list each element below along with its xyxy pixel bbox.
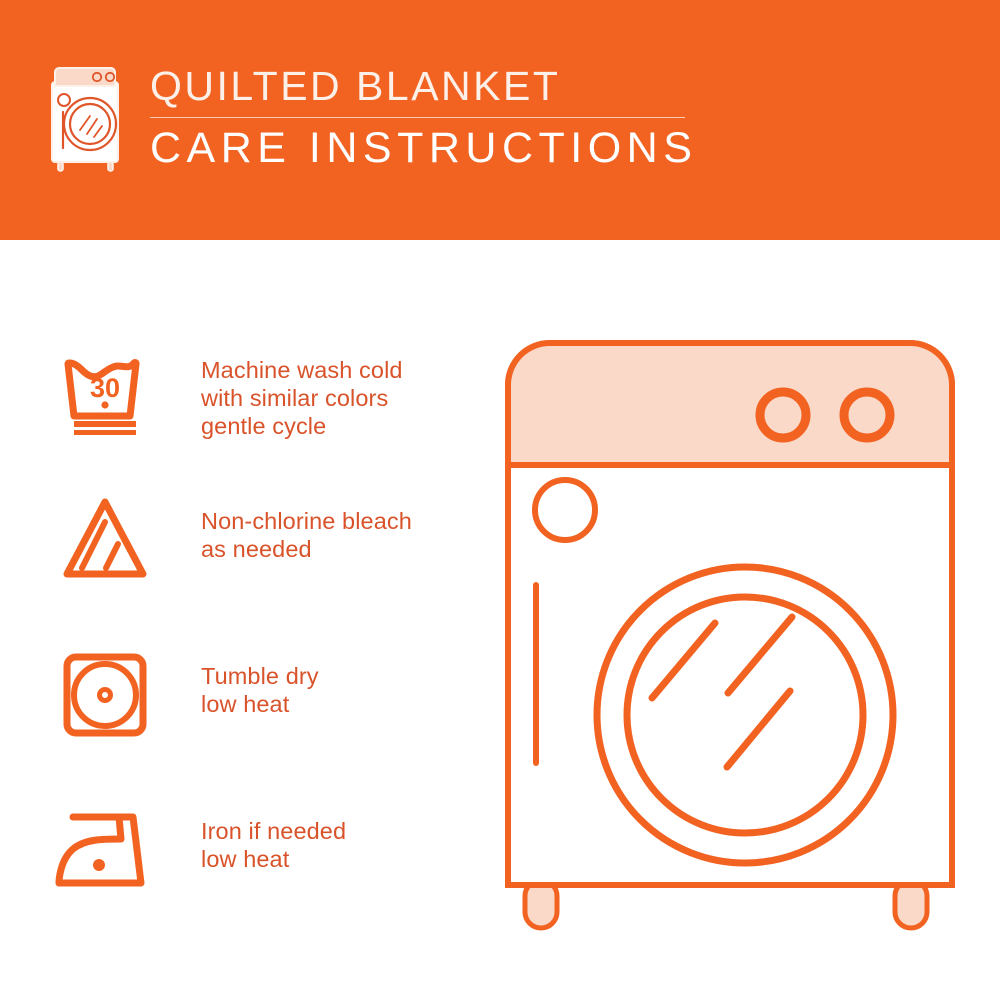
care-instructions-page: QUILTED BLANKET CARE INSTRUCTIONS 30: [0, 0, 1000, 1000]
washing-machine-icon: [42, 62, 134, 174]
machine-wash-30-icon: 30: [55, 335, 155, 435]
care-row-iron: Iron if needed low heat: [0, 795, 500, 950]
header-content: QUILTED BLANKET CARE INSTRUCTIONS: [42, 62, 697, 174]
iron-heat-dot: [93, 859, 105, 871]
care-instruction-list: 30 Machine wash cold with similar colors…: [0, 330, 500, 950]
care-row-tumble-dry: Tumble dry low heat: [0, 640, 500, 795]
iron-low-heat-icon: [51, 805, 159, 895]
care-text-machine-wash: Machine wash cold with similar colors ge…: [201, 356, 403, 440]
tumble-dry-low-icon: [55, 645, 155, 745]
care-row-machine-wash: 30 Machine wash cold with similar colors…: [0, 330, 500, 485]
care-text-iron: Iron if needed low heat: [201, 817, 346, 873]
care-text-bleach: Non-chlorine bleach as needed: [201, 507, 412, 563]
washing-machine-illustration: [490, 325, 970, 935]
title-divider: [150, 117, 685, 119]
care-text-tumble-dry: Tumble dry low heat: [201, 662, 319, 718]
wash-temperature-label: 30: [90, 373, 120, 403]
header-title-group: QUILTED BLANKET CARE INSTRUCTIONS: [150, 65, 697, 172]
machine-wash-30-icon-wrap: 30: [45, 330, 165, 440]
care-row-bleach: Non-chlorine bleach as needed: [0, 485, 500, 640]
wash-temperature-dot: [101, 401, 108, 408]
iron-low-heat-icon-wrap: [45, 795, 165, 905]
non-chlorine-bleach-triangle-icon-wrap: [45, 485, 165, 595]
non-chlorine-bleach-triangle-icon: [55, 490, 155, 590]
tumble-dry-low-icon-wrap: [45, 640, 165, 750]
header-banner: QUILTED BLANKET CARE INSTRUCTIONS: [0, 0, 1000, 240]
page-subtitle: CARE INSTRUCTIONS: [150, 126, 697, 171]
page-title: QUILTED BLANKET: [150, 65, 697, 108]
